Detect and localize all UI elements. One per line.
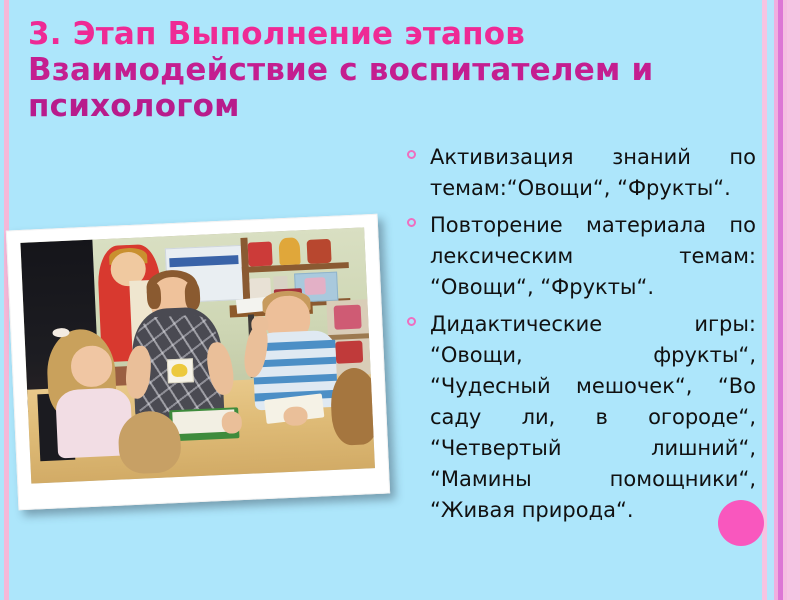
title-line-2: Взаимодействие с воспитателем и [28,52,708,88]
right-stripe-2 [767,0,774,600]
photo-picture-card-image [171,363,187,377]
bullet-circle-icon [407,317,416,326]
list-item-text: Активизация знаний по темам:“Овощи“, “Фр… [430,142,756,204]
photo-scene [20,227,375,483]
photo-teacher-hair-right [184,281,201,311]
right-stripe-1 [762,0,767,600]
right-stripe-6 [787,0,800,600]
photo-right-toy-1 [333,305,362,330]
photo-shelf-box-label [304,277,325,295]
list-item-text: Дидактические игры: “Овощи, фрукты“, “Чу… [430,309,756,526]
list-item: Дидактические игры: “Овощи, фрукты“, “Чу… [404,309,756,526]
photo-toy-1 [248,241,273,266]
bullet-circle-icon [407,218,416,227]
slide-title: 3. Этап Выполнение этапов Взаимодействие… [28,16,708,124]
list-item-text: Повторение материала по лексическим тема… [430,210,756,303]
classroom-photo [20,227,375,483]
title-line-3: психологом [28,88,708,124]
right-stripe-5 [783,0,787,600]
photo-container [6,214,390,511]
right-stripe-4 [778,0,783,600]
photo-teacher-hair-left [146,282,161,309]
photo-toy-2 [278,238,300,265]
list-item: Повторение материала по лексическим тема… [404,210,756,303]
title-line-1: 3. Этап Выполнение этапов [28,16,708,52]
right-stripe-3 [774,0,778,600]
photo-child-hand-right [283,406,308,426]
list-item: Активизация знаний по темам:“Овощи“, “Фр… [404,142,756,204]
slide: 3. Этап Выполнение этапов Взаимодействие… [0,0,800,600]
bullet-circle-icon [407,150,416,159]
bullet-list: Активизация знаний по темам:“Овощи“, “Фр… [404,142,756,532]
photo-right-toy-2 [335,341,363,364]
photo-toy-3 [306,239,331,264]
